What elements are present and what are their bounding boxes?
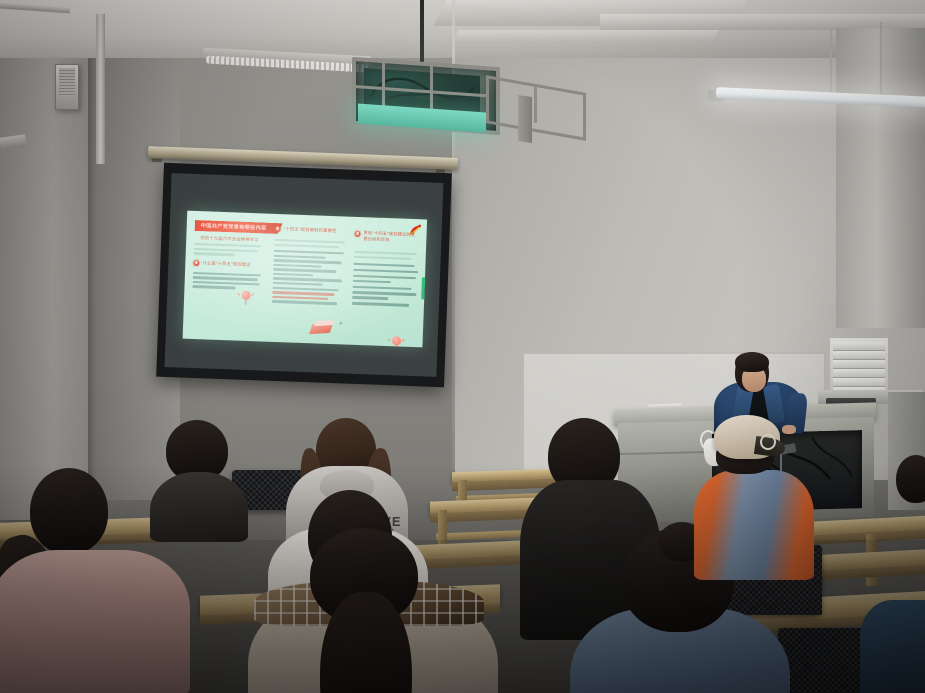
slide-edge-tab bbox=[421, 277, 426, 299]
slide-column-1: 什么是"十四五"规划建议 bbox=[192, 243, 264, 292]
student-jacket bbox=[0, 550, 190, 693]
slide-title-text: 中国共产党党章有哪些内容 bbox=[201, 222, 267, 231]
cap-strap-buckle bbox=[760, 434, 776, 450]
slide-column-2-heading: "十四五"规划编制的重要性 bbox=[284, 226, 337, 234]
classroom-photo: 中国共产党党章有哪些内容 党的十九届六中全会精神学习 bbox=[0, 0, 925, 693]
slide-subtitle: 党的十九届六中全会精神学习 bbox=[200, 235, 259, 243]
slide-column-1-heading: 什么是"十四五"规划建议 bbox=[202, 260, 251, 268]
projector-mount-rod bbox=[420, 0, 424, 62]
student-torso bbox=[860, 600, 925, 693]
student-head bbox=[896, 455, 925, 503]
wall-speaker-icon bbox=[55, 64, 79, 110]
projector-wall-bracket bbox=[518, 95, 532, 143]
filing-cabinet bbox=[830, 338, 888, 396]
wall-conduit-vertical bbox=[96, 14, 105, 164]
projection-screen[interactable]: 中国共产党党章有哪些内容 党的十九届六中全会精神学习 bbox=[156, 163, 452, 387]
instructor-hair bbox=[735, 352, 769, 372]
slide-bullet-marker bbox=[193, 259, 199, 265]
open-book-illustration-icon bbox=[309, 323, 333, 334]
light-hanger bbox=[830, 30, 832, 95]
light-hanger bbox=[880, 22, 882, 100]
screen-surface: 中国共产党党章有哪些内容 党的十九届六中全会精神学习 bbox=[165, 173, 444, 377]
slide-bullet-marker bbox=[275, 226, 281, 232]
slide-column-3: 贯彻"十四五"规划建议的主要目标和任务 bbox=[352, 231, 421, 310]
lightbulb-illustration-icon bbox=[388, 336, 405, 347]
slide-column-3-heading: 贯彻"十四五"规划建议的主要目标和任务 bbox=[363, 230, 417, 245]
ceiling-beam bbox=[451, 30, 719, 43]
presentation-slide: 中国共产党党章有哪些内容 党的十九届六中全会精神学习 bbox=[183, 211, 428, 348]
slide-bullet-marker bbox=[354, 231, 360, 237]
slide-column-2: "十四五"规划编制的重要性 bbox=[272, 226, 347, 307]
student-raglan-shirt bbox=[694, 470, 814, 580]
mouse-pointer-icon: ✦ bbox=[338, 320, 343, 326]
instructor-hand bbox=[782, 425, 796, 434]
student-head bbox=[30, 468, 108, 554]
lightbulb-illustration-icon bbox=[238, 291, 255, 306]
student-torso bbox=[150, 472, 248, 542]
slide-title-banner: 中国共产党党章有哪些内容 bbox=[195, 220, 283, 234]
